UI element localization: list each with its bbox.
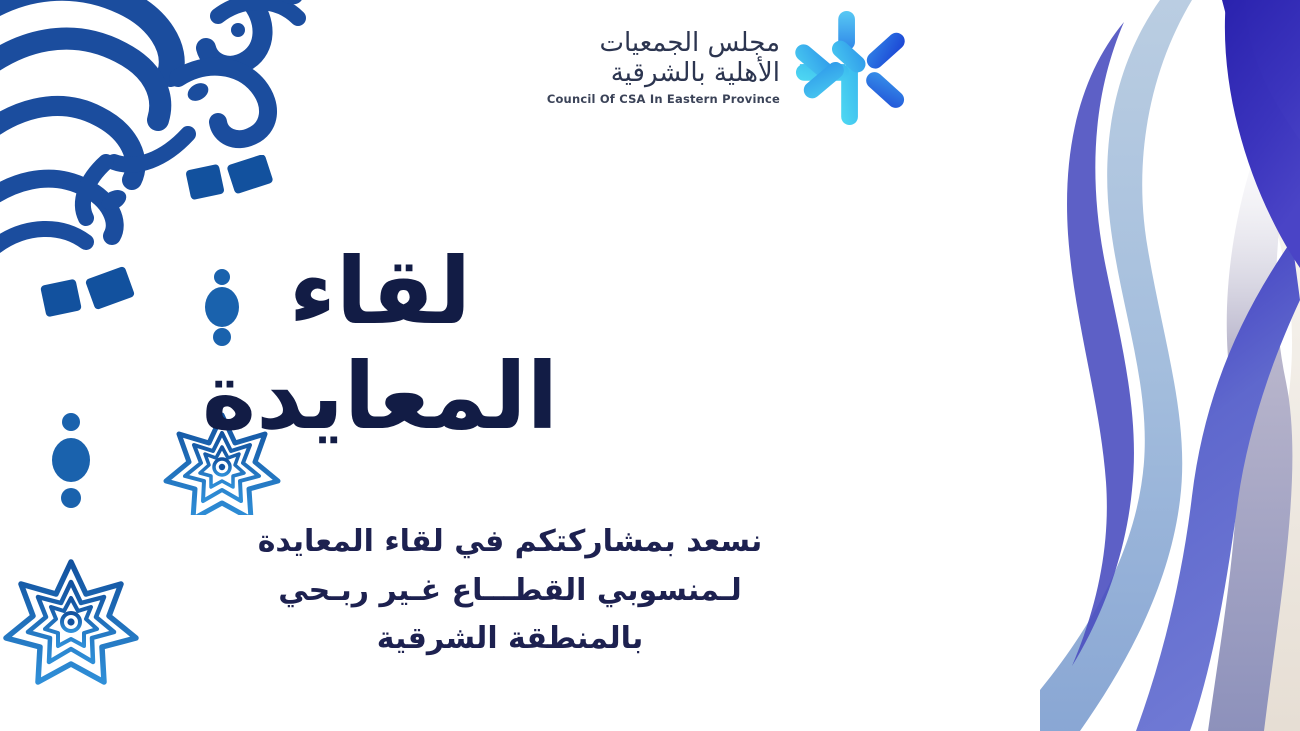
- asterisk-arrow-logo-mark: [794, 9, 912, 127]
- invitation-card: مجلس الجمعيات الأهلية بالشرقية Council O…: [0, 0, 1300, 731]
- subtitle-line-1: نسعد بمشاركتكم في لقاء المعايدة: [0, 518, 1020, 567]
- logo-english-name: Council Of CSA In Eastern Province: [547, 94, 780, 106]
- organization-logo: مجلس الجمعيات الأهلية بالشرقية Council O…: [552, 8, 912, 128]
- subtitle: نسعد بمشاركتكم في لقاء المعايدة لـمنسوبي…: [0, 518, 1020, 664]
- title-line-1: لقاء: [0, 238, 760, 347]
- logo-arabic-line1: مجلس الجمعيات: [600, 30, 780, 56]
- page-title: لقاء المعايدة: [0, 238, 760, 451]
- title-line-2: المعايدة: [0, 343, 760, 452]
- logo-text-block: مجلس الجمعيات الأهلية بالشرقية Council O…: [547, 30, 780, 106]
- logo-arabic-line2: الأهلية بالشرقية: [611, 60, 780, 86]
- flowing-ribbon-decoration: [1040, 0, 1300, 731]
- arabic-calligraphy-decoration: [0, 0, 312, 274]
- subtitle-line-3: بالمنطقة الشرقية: [0, 615, 1020, 664]
- subtitle-line-2: لـمنسوبي القطـــاع غـير ربـحي: [0, 567, 1020, 616]
